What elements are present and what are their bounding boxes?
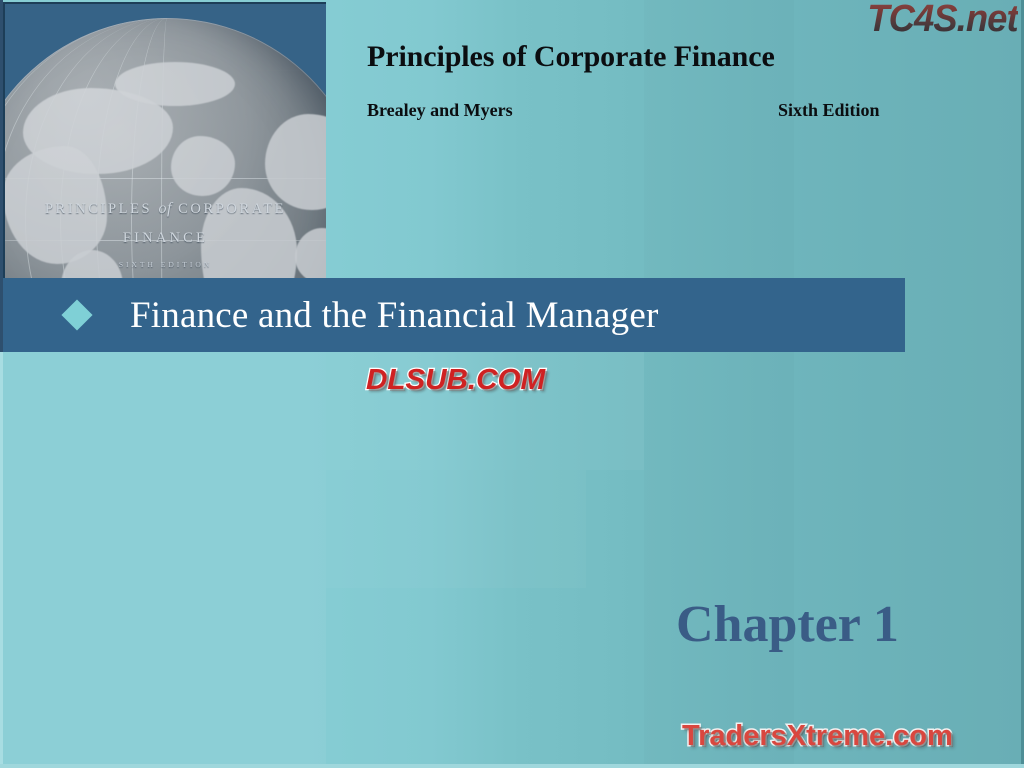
watermark-tc4s: TC4S.net	[868, 0, 1018, 41]
globe-graphic	[3, 18, 326, 280]
background-band-center-lower	[326, 470, 586, 588]
diamond-bullet-icon	[61, 299, 92, 330]
presentation-slide: PRINCIPLES of CORPORATE FINANCE SIXTH ED…	[0, 0, 1024, 768]
book-title-heading: Principles of Corporate Finance	[367, 40, 775, 74]
book-cover-image: PRINCIPLES of CORPORATE FINANCE SIXTH ED…	[3, 2, 326, 280]
globe-rim	[3, 18, 326, 280]
watermark-dlsub: DLSUB.COM	[366, 364, 545, 397]
background-band-left	[0, 352, 326, 768]
slide-title-text: Finance and the Financial Manager	[130, 294, 659, 337]
edition-label: Sixth Edition	[778, 100, 880, 121]
slide-title-banner: Finance and the Financial Manager	[0, 278, 905, 352]
authors-label: Brealey and Myers	[367, 100, 513, 121]
chapter-label: Chapter 1	[676, 595, 899, 654]
watermark-tradersxtreme: TradersXtreme.com	[682, 720, 953, 753]
slide-edge-left	[0, 0, 3, 768]
slide-edge-bottom	[0, 764, 1024, 768]
